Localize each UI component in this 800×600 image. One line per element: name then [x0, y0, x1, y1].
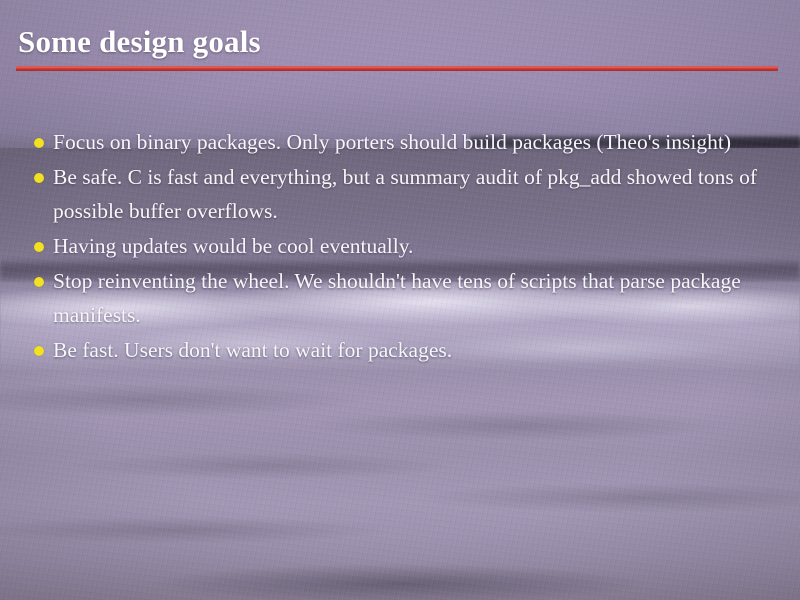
list-item-label: Stop reinventing the wheel. We shouldn't…	[53, 264, 770, 332]
list-item-label: Having updates would be cool eventually.	[53, 229, 770, 263]
bullet-dot-icon	[34, 242, 44, 252]
presentation-slide: Some design goals Focus on binary packag…	[0, 0, 800, 600]
list-item: Focus on binary packages. Only porters s…	[30, 125, 770, 159]
bullet-dot-icon	[34, 173, 44, 183]
bullet-dot-icon	[34, 346, 44, 356]
bullet-list: Focus on binary packages. Only porters s…	[30, 125, 770, 368]
list-item: Having updates would be cool eventually.	[30, 229, 770, 263]
list-item: Be safe. C is fast and everything, but a…	[30, 160, 770, 228]
list-item-label: Focus on binary packages. Only porters s…	[53, 125, 770, 159]
list-item: Be fast. Users don't want to wait for pa…	[30, 333, 770, 367]
list-item-label: Be safe. C is fast and everything, but a…	[53, 160, 770, 228]
title-underline-rule	[16, 66, 778, 71]
slide-content: Some design goals Focus on binary packag…	[0, 0, 800, 600]
bullet-dot-icon	[34, 138, 44, 148]
list-item: Stop reinventing the wheel. We shouldn't…	[30, 264, 770, 332]
bullet-dot-icon	[34, 277, 44, 287]
slide-title: Some design goals	[18, 24, 261, 60]
list-item-label: Be fast. Users don't want to wait for pa…	[53, 333, 770, 367]
